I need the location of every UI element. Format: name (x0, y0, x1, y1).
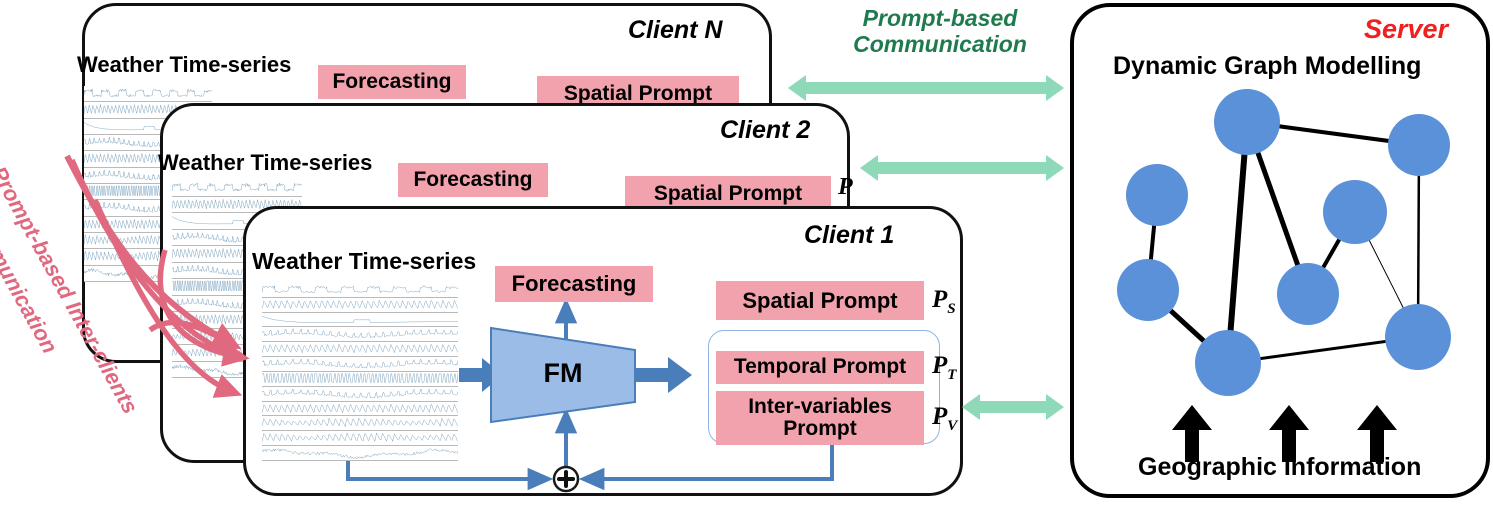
foundation-model-label: FM (489, 358, 637, 389)
timeseries-row (262, 446, 458, 461)
client-1-panel-title: Weather Time-series (252, 248, 476, 275)
timeseries-row (262, 357, 458, 372)
client-n-forecasting-chip: Forecasting (318, 65, 466, 99)
client-1-spatial-prompt-var: PS (932, 286, 956, 318)
foundation-model-block: FM (489, 326, 637, 424)
timeseries-row (84, 86, 212, 102)
client-2-panel-title: Weather Time-series (158, 150, 372, 176)
dynamic-graph-modelling-title: Dynamic Graph Modelling (1113, 52, 1421, 81)
timeseries-row (262, 298, 458, 313)
timeseries-row (262, 372, 458, 387)
client-1-forecasting-chip: Forecasting (495, 266, 653, 302)
client-2-forecasting-chip: Forecasting (398, 163, 548, 197)
timeseries-row (262, 313, 458, 328)
diagram-canvas: Weather Time-series Forecasting Spatial … (0, 0, 1493, 505)
timeseries-row (262, 416, 458, 431)
timeseries-row (172, 180, 302, 197)
client-1-temporal-prompt-var: PT (932, 352, 956, 384)
timeseries-row (262, 387, 458, 402)
client-1-temporal-prompt-chip: Temporal Prompt (716, 351, 924, 384)
timeseries-row (262, 283, 458, 298)
client-n-panel-title: Weather Time-series (77, 52, 291, 78)
server-label: Server (1364, 14, 1448, 45)
client-1-label: Client 1 (804, 221, 894, 250)
client-1-spatial-prompt-chip: Spatial Prompt (716, 281, 924, 320)
client-n-label: Client N (628, 16, 722, 45)
client-2-spatial-prompt-var: P (838, 174, 853, 201)
client-1-inter-variables-prompt-var: PV (932, 403, 957, 435)
timeseries-row (262, 327, 458, 342)
client-1-timeseries (262, 283, 458, 461)
timeseries-row (262, 342, 458, 357)
client-1-inter-variables-prompt-chip: Inter-variables Prompt (716, 391, 924, 445)
timeseries-row (262, 431, 458, 446)
client-2-label: Client 2 (720, 116, 810, 145)
prompt-based-communication-label: Prompt-based Communication (820, 6, 1060, 58)
geographic-information-label: Geographic Information (1138, 453, 1421, 482)
timeseries-row (262, 402, 458, 417)
